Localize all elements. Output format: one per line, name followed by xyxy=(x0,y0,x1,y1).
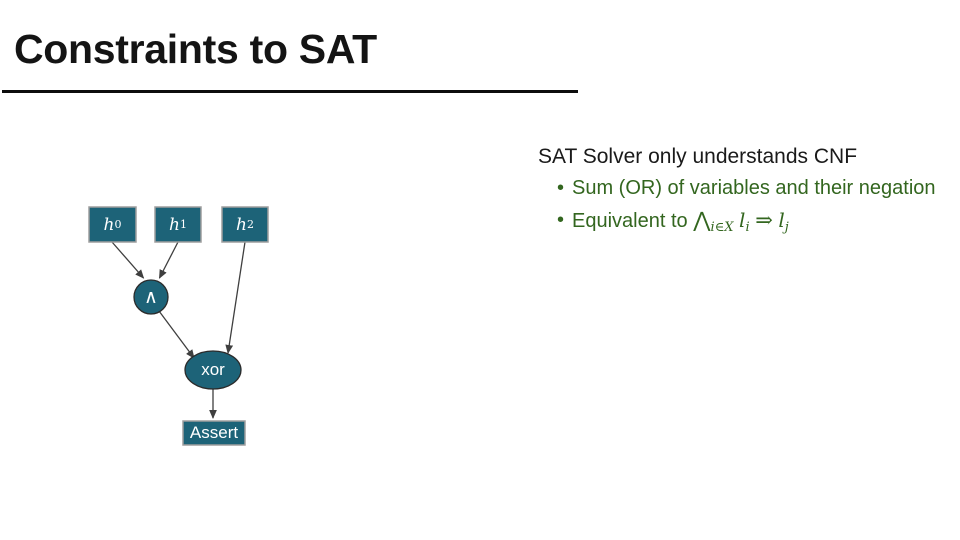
edge-h0-and xyxy=(112,242,144,278)
bullet-item-equivalent-prefix: Equivalent to xyxy=(572,210,693,232)
literal-j-subscript: j xyxy=(785,220,789,235)
edge-and-xor xyxy=(159,311,194,358)
bullet-item-equivalent: • Equivalent to ⋀i∈X li ⇒ lj xyxy=(538,206,938,238)
node-and[interactable] xyxy=(134,280,168,314)
big-and-subscript: i∈X xyxy=(710,220,733,235)
graph-nodes xyxy=(89,207,268,445)
implies-operator: ⇒ xyxy=(755,208,773,232)
bullet-list: • Sum (OR) of variables and their negati… xyxy=(538,174,938,238)
bullet-marker-icon: • xyxy=(557,174,564,203)
slide-canvas: Constraints to SAT h0 h1 xyxy=(0,0,960,540)
literal-j: l xyxy=(778,208,784,232)
edge-h2-xor xyxy=(228,242,245,353)
bullet-item-sum-or-text: Sum (OR) of variables and their negation xyxy=(572,177,936,199)
graph-edges xyxy=(112,242,245,418)
node-h0[interactable] xyxy=(89,207,136,242)
node-assert[interactable] xyxy=(183,421,245,445)
big-and-operator: ⋀ xyxy=(693,208,710,232)
cnf-heading: SAT Solver only understands CNF xyxy=(538,144,938,170)
node-h1[interactable] xyxy=(155,207,201,242)
bullet-marker-icon: • xyxy=(557,206,564,235)
constraint-graph-diagram xyxy=(0,0,460,540)
bullet-item-sum-or: • Sum (OR) of variables and their negati… xyxy=(538,174,938,203)
explanation-panel: SAT Solver only understands CNF • Sum (O… xyxy=(538,144,938,241)
edge-h1-and xyxy=(160,242,179,278)
node-xor[interactable] xyxy=(185,351,241,389)
node-h2[interactable] xyxy=(222,207,268,242)
literal-i-subscript: i xyxy=(745,220,749,235)
